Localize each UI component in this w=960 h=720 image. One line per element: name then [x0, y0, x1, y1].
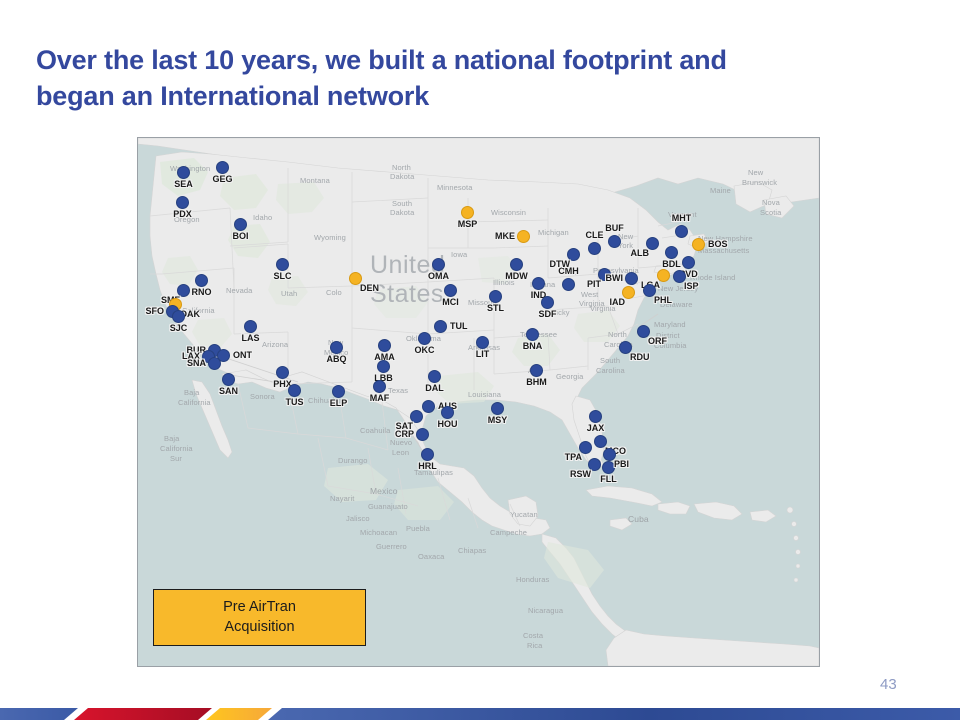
- airport-marker-sdf[interactable]: SDF: [541, 296, 554, 309]
- airport-marker-lga[interactable]: LGA: [657, 269, 670, 282]
- airport-marker-mdw[interactable]: MDW: [510, 258, 523, 271]
- airport-code-label: SLC: [274, 271, 292, 281]
- page-number: 43: [880, 676, 897, 693]
- airport-code-label: BOI: [232, 231, 248, 241]
- airport-code-label: MHT: [672, 213, 692, 223]
- airport-dot-icon: [476, 336, 489, 349]
- airport-marker-cmh[interactable]: CMH: [562, 278, 575, 291]
- airport-marker-bdl[interactable]: BDL: [665, 246, 678, 259]
- airport-marker-ama[interactable]: AMA: [378, 339, 391, 352]
- airport-marker-isp[interactable]: ISP: [673, 270, 686, 283]
- airport-dot-icon: [416, 428, 429, 441]
- airport-code-label: GEG: [212, 174, 232, 184]
- airport-marker-mht[interactable]: MHT: [675, 225, 688, 238]
- airport-dot-icon: [244, 320, 257, 333]
- airport-marker-sna[interactable]: SNA: [208, 357, 221, 370]
- airport-marker-rdu[interactable]: RDU: [619, 341, 632, 354]
- airport-dot-icon: [195, 274, 208, 287]
- airport-marker-bna[interactable]: BNA: [526, 328, 539, 341]
- airport-marker-pvd[interactable]: PVD: [682, 256, 695, 269]
- airport-code-label: DAL: [425, 383, 444, 393]
- airport-dot-icon: [276, 366, 289, 379]
- airport-marker-tul[interactable]: TUL: [434, 320, 447, 333]
- airport-marker-buf[interactable]: BUF: [608, 235, 621, 248]
- airport-code-label: ORF: [648, 336, 667, 346]
- airport-code-label: MDW: [505, 271, 528, 281]
- airport-marker-slc[interactable]: SLC: [276, 258, 289, 271]
- airport-marker-maf[interactable]: MAF: [373, 380, 386, 393]
- airport-marker-rsw[interactable]: RSW: [588, 458, 601, 471]
- airport-code-label: ELP: [330, 398, 348, 408]
- airport-marker-smf[interactable]: SMF: [177, 284, 190, 297]
- airport-dot-icon: [665, 246, 678, 259]
- airport-marker-sat[interactable]: SAT: [410, 410, 423, 423]
- airport-dot-icon: [428, 370, 441, 383]
- airport-code-label: ONT: [233, 350, 252, 360]
- airport-dot-icon: [461, 206, 474, 219]
- airport-dot-icon: [177, 166, 190, 179]
- airport-dot-icon: [378, 339, 391, 352]
- airport-dot-icon: [234, 218, 247, 231]
- airport-marker-pbi[interactable]: PBI: [603, 448, 616, 461]
- airport-marker-bhm[interactable]: BHM: [530, 364, 543, 377]
- airport-dot-icon: [330, 341, 343, 354]
- airport-code-label: SFO: [145, 306, 164, 316]
- airport-dot-icon: [562, 278, 575, 291]
- airport-dot-icon: [589, 410, 602, 423]
- airport-code-label: CRP: [395, 429, 414, 439]
- airport-code-label: PIT: [587, 279, 601, 289]
- airport-code-label: RNO: [192, 287, 212, 297]
- airport-dot-icon: [517, 230, 530, 243]
- airport-code-label: TUS: [286, 397, 304, 407]
- airport-code-label: SEA: [174, 179, 193, 189]
- airport-code-label: LIT: [476, 349, 490, 359]
- airport-marker-mke[interactable]: MKE: [517, 230, 530, 243]
- airport-code-label: DEN: [360, 283, 379, 293]
- airport-code-label: SAN: [219, 386, 238, 396]
- airport-marker-san[interactable]: SAN: [222, 373, 235, 386]
- airport-marker-dal[interactable]: DAL: [428, 370, 441, 383]
- airport-marker-hrl[interactable]: HRL: [421, 448, 434, 461]
- airport-dot-icon: [682, 256, 695, 269]
- airport-marker-msp[interactable]: MSP: [461, 206, 474, 219]
- airport-code-label: ABQ: [327, 354, 347, 364]
- airport-code-label: ALB: [631, 248, 650, 258]
- airport-marker-cle[interactable]: CLE: [588, 242, 601, 255]
- airport-dot-icon: [172, 310, 185, 323]
- airport-code-label: SNA: [187, 358, 206, 368]
- map-panel[interactable]: .land { fill:#ebebeb; stroke:#d4d4d4; st…: [137, 137, 820, 667]
- airport-marker-sjc[interactable]: SJC: [172, 310, 185, 323]
- airport-dot-icon: [532, 277, 545, 290]
- page-title-line1: Over the last 10 years, we built a natio…: [36, 45, 727, 75]
- airport-marker-dtw[interactable]: DTW: [567, 248, 580, 261]
- airport-dot-icon: [216, 161, 229, 174]
- airport-marker-boi[interactable]: BOI: [234, 218, 247, 231]
- airport-marker-las[interactable]: LAS: [244, 320, 257, 333]
- airport-code-label: STL: [487, 303, 504, 313]
- airport-code-label: MSY: [488, 415, 508, 425]
- airport-code-label: HOU: [438, 419, 458, 429]
- airport-dot-icon: [608, 235, 621, 248]
- airport-code-label: IAD: [610, 297, 626, 307]
- airport-dot-icon: [288, 384, 301, 397]
- airport-marker-sea[interactable]: SEA: [177, 166, 190, 179]
- airport-code-label: SDF: [539, 309, 557, 319]
- airport-dot-icon: [675, 225, 688, 238]
- airport-marker-aus[interactable]: AUS: [422, 400, 435, 413]
- airport-code-label: OMA: [428, 271, 449, 281]
- page-title-line2: began an International network: [36, 81, 429, 111]
- airport-marker-jax[interactable]: JAX: [589, 410, 602, 423]
- airport-marker-abq[interactable]: ABQ: [330, 341, 343, 354]
- airport-code-label: PHL: [654, 295, 672, 305]
- airport-marker-phl[interactable]: PHL: [643, 284, 656, 297]
- airport-marker-den[interactable]: DEN: [349, 272, 362, 285]
- airport-marker-pdx[interactable]: PDX: [176, 196, 189, 209]
- airport-code-label: CLE: [586, 230, 604, 240]
- airport-code-label: BHM: [526, 377, 547, 387]
- airport-marker-lit[interactable]: LIT: [476, 336, 489, 349]
- airport-marker-geg[interactable]: GEG: [216, 161, 229, 174]
- airport-dot-icon: [526, 328, 539, 341]
- legend-box: Pre AirTran Acquisition: [153, 589, 366, 646]
- airport-dot-icon: [208, 357, 221, 370]
- airport-marker-lbb[interactable]: LBB: [377, 360, 390, 373]
- airport-code-label: ISP: [684, 281, 699, 291]
- airport-marker-phx[interactable]: PHX: [276, 366, 289, 379]
- airport-dot-icon: [491, 402, 504, 415]
- airport-dot-icon: [176, 196, 189, 209]
- airport-dot-icon: [421, 448, 434, 461]
- airport-marker-orf[interactable]: ORF: [637, 325, 650, 338]
- airport-code-label: SJC: [170, 323, 188, 333]
- footer-stripe: [0, 702, 960, 720]
- airport-dot-icon: [432, 258, 445, 271]
- airport-dot-icon: [422, 400, 435, 413]
- airport-code-label: BDL: [662, 259, 681, 269]
- airport-code-label: DTW: [550, 259, 571, 269]
- airport-marker-ind[interactable]: IND: [532, 277, 545, 290]
- airport-dot-icon: [434, 320, 447, 333]
- airport-code-label: LAS: [242, 333, 260, 343]
- airport-code-label: FLL: [600, 474, 617, 484]
- airport-code-label: RSW: [570, 469, 591, 479]
- airport-dot-icon: [222, 373, 235, 386]
- airport-dot-icon: [541, 296, 554, 309]
- airport-marker-iad[interactable]: IAD: [622, 286, 635, 299]
- airport-dot-icon: [276, 258, 289, 271]
- airport-dot-icon: [418, 332, 431, 345]
- airport-marker-mci[interactable]: MCI: [444, 284, 457, 297]
- airport-marker-rno[interactable]: RNO: [195, 274, 208, 287]
- airport-dot-icon: [332, 385, 345, 398]
- airport-dot-icon: [530, 364, 543, 377]
- airport-marker-elp[interactable]: ELP: [332, 385, 345, 398]
- airport-code-label: BOS: [708, 239, 728, 249]
- airport-code-label: MCI: [442, 297, 459, 307]
- legend-label-line1: Pre AirTran: [223, 599, 296, 615]
- airport-dot-icon: [373, 380, 386, 393]
- airport-dot-icon: [441, 406, 454, 419]
- airport-code-label: MSP: [458, 219, 478, 229]
- airport-code-label: MKE: [495, 231, 515, 241]
- airport-marker-crp[interactable]: CRP: [416, 428, 429, 441]
- airport-dot-icon: [588, 242, 601, 255]
- airport-code-label: OKC: [415, 345, 435, 355]
- airport-code-label: HRL: [418, 461, 437, 471]
- airport-marker-stl[interactable]: STL: [489, 290, 502, 303]
- airport-marker-hou[interactable]: HOU: [441, 406, 454, 419]
- slide: Over the last 10 years, we built a natio…: [0, 0, 960, 720]
- airport-dot-icon: [510, 258, 523, 271]
- airport-marker-bos[interactable]: BOS: [692, 238, 705, 251]
- legend-label: Pre AirTran Acquisition: [223, 598, 296, 637]
- airport-code-label: JAX: [587, 423, 605, 433]
- airport-dot-icon: [377, 360, 390, 373]
- airport-marker-alb[interactable]: ALB: [646, 237, 659, 250]
- airport-marker-bwi[interactable]: BWI: [625, 272, 638, 285]
- airport-marker-okc[interactable]: OKC: [418, 332, 431, 345]
- airport-code-label: BUF: [605, 223, 624, 233]
- airport-dot-icon: [692, 238, 705, 251]
- airport-marker-mco[interactable]: MCO: [594, 435, 607, 448]
- airport-code-label: TPA: [565, 452, 582, 462]
- airport-code-label: BNA: [523, 341, 543, 351]
- airport-code-label: MAF: [370, 393, 390, 403]
- page-title: Over the last 10 years, we built a natio…: [36, 43, 916, 115]
- legend-label-line2: Acquisition: [224, 619, 294, 635]
- airport-marker-tus[interactable]: TUS: [288, 384, 301, 397]
- airport-marker-tpa[interactable]: TPA: [579, 441, 592, 454]
- airport-dot-icon: [489, 290, 502, 303]
- airport-code-label: RDU: [630, 352, 650, 362]
- airport-dot-icon: [625, 272, 638, 285]
- airport-code-label: PDX: [173, 209, 192, 219]
- airport-code-label: PBI: [614, 459, 629, 469]
- airport-marker-oma[interactable]: OMA: [432, 258, 445, 271]
- airport-marker-msy[interactable]: MSY: [491, 402, 504, 415]
- airport-code-label: BWI: [606, 273, 624, 283]
- airport-code-label: TUL: [450, 321, 468, 331]
- airport-dot-icon: [444, 284, 457, 297]
